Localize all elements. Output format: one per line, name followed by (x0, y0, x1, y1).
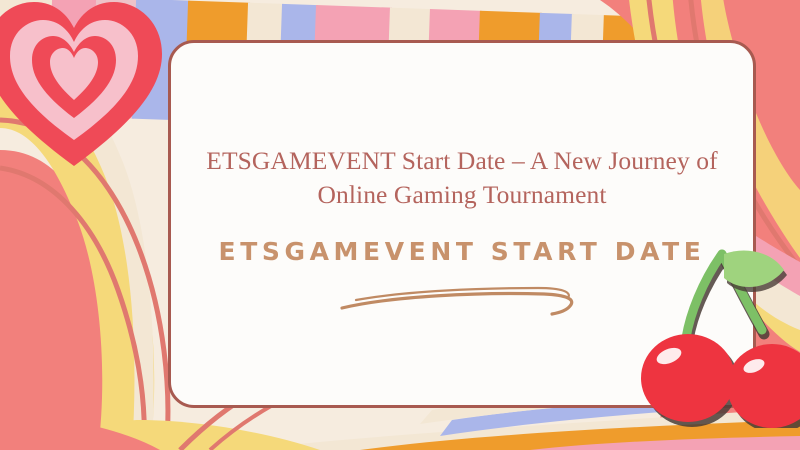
heart-icon (0, 0, 162, 182)
cherries-decoration (612, 228, 800, 428)
poster-canvas: ETSGAMEVENT Start Date – A New Journey o… (0, 0, 800, 450)
heart-decoration (0, 0, 162, 182)
cherries-icon (612, 228, 800, 428)
